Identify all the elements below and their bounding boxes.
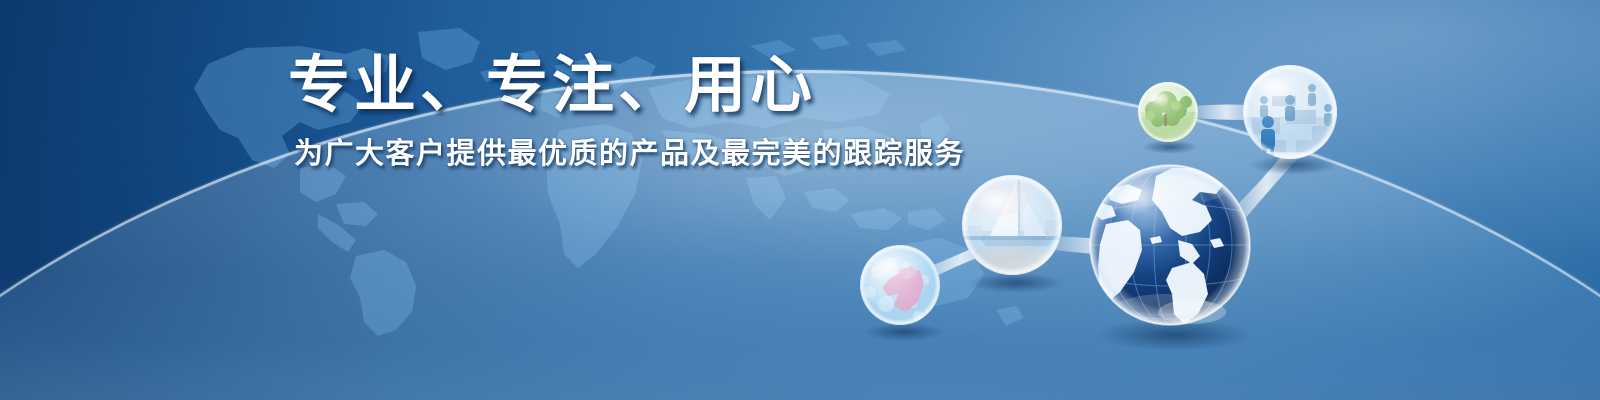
harbor-sail-sphere	[962, 175, 1062, 276]
earth-globe-sphere	[1090, 140, 1258, 343]
pink-map-sphere	[860, 245, 940, 325]
promo-banner: 专业、专注、用心 为广大客户提供最优质的产品及最完美的跟踪服务	[0, 0, 1600, 400]
green-nature-sphere	[1138, 82, 1198, 142]
connected-glass-spheres-network	[820, 40, 1460, 380]
harbor-sphere-shadow	[968, 273, 1064, 293]
green-sphere-shadow	[1142, 140, 1198, 154]
pink-map-sphere-shadow	[864, 323, 944, 341]
people-office-sphere	[1243, 65, 1338, 160]
